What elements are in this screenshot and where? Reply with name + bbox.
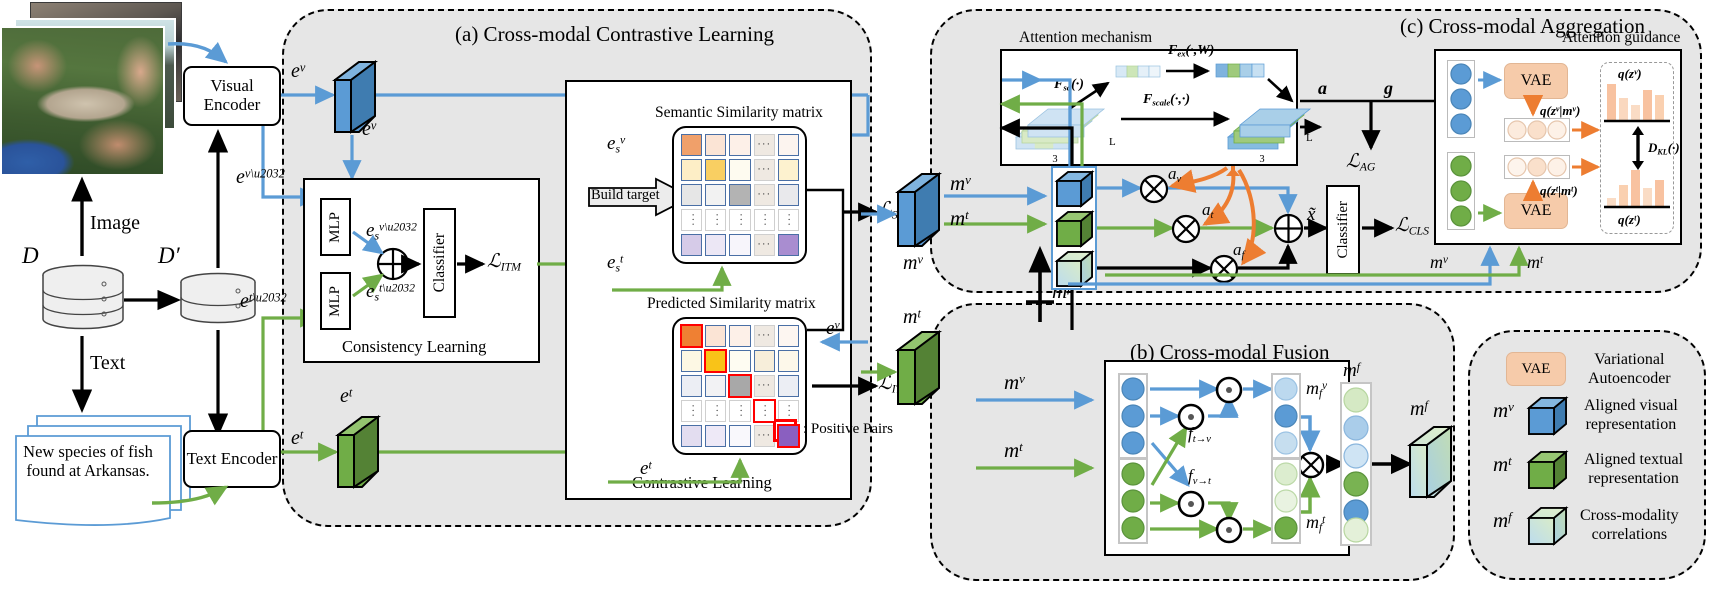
- fusion-mft-nodes: [1271, 458, 1301, 544]
- label-mft: mft: [1306, 512, 1325, 534]
- legend-mf-line2: correlations: [1592, 526, 1668, 543]
- matrix-cell-positive-pair: [705, 350, 726, 372]
- legend-mt-line1: Aligned textual: [1584, 451, 1683, 468]
- label-f-t-to-v: ft→v: [1188, 424, 1211, 445]
- fusion-dot-v: [1215, 376, 1243, 404]
- legend-green-cube: [1527, 450, 1569, 490]
- legend-vae-line1: Variational: [1594, 351, 1664, 368]
- legend-mv-text: Aligned visual representation: [1584, 396, 1678, 434]
- legend-mt-text: Aligned textual representation: [1584, 450, 1683, 488]
- legend-mf-symbol: mf: [1493, 508, 1512, 533]
- label-f-v-to-t: fv→t: [1188, 466, 1211, 487]
- label-mf-cube: mf: [1410, 398, 1428, 421]
- fusion-mf-cube: [1408, 425, 1454, 505]
- legend-mv-symbol: mv: [1493, 398, 1514, 423]
- matrix-cell-positive-pair: ···: [754, 400, 775, 422]
- legend-mf-text: Cross-modality correlations: [1580, 506, 1679, 544]
- fusion-mf-nodes: [1340, 382, 1372, 546]
- fusion-internal-arrows: [0, 0, 1717, 589]
- legend-vae-chip-label: VAE: [1522, 361, 1551, 378]
- legend-mv-line2: representation: [1586, 416, 1677, 433]
- fusion-dot-vt: [1177, 490, 1205, 518]
- legend-vae-chip: VAE: [1506, 352, 1566, 386]
- matrix-cell-positive-pair: [778, 425, 799, 447]
- legend-blue-cube: [1527, 396, 1569, 436]
- label-mfv: mfv: [1306, 378, 1327, 400]
- legend-mf-line1: Cross-modality: [1580, 507, 1679, 524]
- legend-mt-symbol: mt: [1493, 452, 1512, 477]
- legend-vae-line2: Autoencoder: [1588, 370, 1671, 387]
- fusion-dot-t: [1215, 516, 1243, 544]
- legend-mv-line1: Aligned visual: [1584, 397, 1678, 414]
- matrix-cell-positive-pair: [681, 325, 702, 347]
- fusion-cross-node: [1297, 451, 1325, 479]
- legend-vae-text: Variational Autoencoder: [1588, 350, 1671, 388]
- fusion-mfv-nodes: [1271, 373, 1301, 459]
- legend-mt-line2: representation: [1588, 470, 1679, 487]
- legend-gradient-cube: [1527, 506, 1569, 546]
- matrix-cell-positive-pair: [729, 375, 750, 397]
- ellipsis-vertical-icon: ···: [759, 404, 770, 418]
- label-mf-column: mf: [1343, 360, 1360, 382]
